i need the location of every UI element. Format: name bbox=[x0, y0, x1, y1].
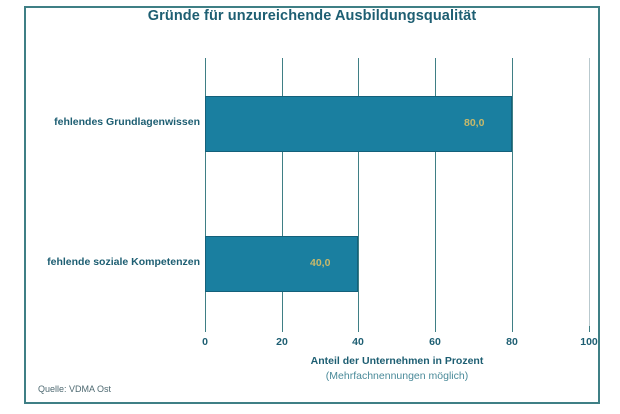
x-axis-title: Anteil der Unternehmen in Prozent bbox=[205, 355, 589, 367]
category-label-0: fehlendes Grundlagenwissen bbox=[15, 116, 200, 128]
tick-label-0: 0 bbox=[185, 336, 225, 348]
chart-figure: Gründe für unzureichende Ausbildungsqual… bbox=[0, 0, 620, 414]
category-label-1: fehlende soziale Kompetenzen bbox=[15, 256, 200, 268]
tick-label-100: 100 bbox=[569, 336, 609, 348]
x-axis-subtitle: (Mehrfachnennungen möglich) bbox=[205, 370, 589, 382]
tick-label-20: 20 bbox=[262, 336, 302, 348]
plot-area: 80,0 40,0 bbox=[205, 58, 589, 326]
tick-label-60: 60 bbox=[415, 336, 455, 348]
tick-label-80: 80 bbox=[492, 336, 532, 348]
tick-mark-40 bbox=[358, 326, 359, 332]
tick-mark-80 bbox=[512, 326, 513, 332]
tick-mark-100 bbox=[589, 326, 590, 332]
bar-value-label-0: 80,0 bbox=[464, 117, 484, 129]
bar-value-label-1: 40,0 bbox=[310, 257, 330, 269]
gridline-80 bbox=[512, 58, 513, 326]
tick-mark-60 bbox=[435, 326, 436, 332]
tick-mark-0 bbox=[205, 326, 206, 332]
chart-title: Gründe für unzureichende Ausbildungsqual… bbox=[26, 8, 598, 24]
bar-fehlende-soziale-kompetenzen[interactable] bbox=[205, 236, 358, 292]
tick-mark-20 bbox=[282, 326, 283, 332]
tick-label-40: 40 bbox=[338, 336, 378, 348]
gridline-100 bbox=[589, 58, 590, 326]
source-note: Quelle: VDMA Ost bbox=[38, 384, 111, 394]
